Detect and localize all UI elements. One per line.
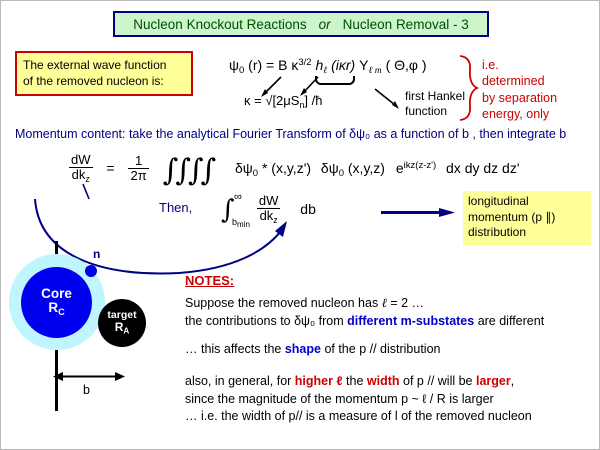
target-circle: target RA [98,299,146,347]
note-3a-comma: , [511,374,514,388]
longmom-line-1: longitudinal [468,194,586,210]
core-radius-text: R [48,300,58,315]
spherical-harmonic-argument: ( Θ,φ ) [382,57,427,73]
core-circle: Core RC [21,267,92,338]
integrand-second: δψ0 (x,y,z) [321,160,385,176]
title-right: Nucleon Removal - 3 [343,17,469,32]
title-or: or [319,17,331,32]
ie-line-4: energy, only [482,106,557,122]
note-3a-bold2: width [367,374,400,388]
integrand-a-arg: * (x,y,z') [258,160,311,176]
notes-heading: NOTES: [185,273,234,288]
title-left: Nucleon Knockout Reactions [133,17,306,32]
neutron-label: n [93,247,100,261]
callout-line-2: of the removed nucleon is: [23,73,185,89]
neutron-dot [85,265,97,277]
note-1a: Suppose the removed nucleon has ℓ = 2 … [185,295,544,313]
dW-numerator: dW [69,153,93,168]
note-3c: … i.e. the width of p// is a measure of … [185,408,532,426]
integrand-a-symbol: δψ [235,160,253,176]
core-radius-label: RC [48,301,64,318]
hankel-argument: (iκr) [327,57,355,73]
equals-sign: = [106,160,114,176]
note-3a: also, in general, for higher ℓ the width… [185,373,532,391]
callout-line-1: The external wave function [23,57,185,73]
longitudinal-momentum-box: longitudinal momentum (p ∥) distribution [463,191,591,245]
quadruple-integral-symbol: ∫∫∫∫ [163,153,214,188]
separation-energy-note: i.e. determined by separation energy, on… [482,57,557,122]
note-1b-tail: are different [474,314,544,328]
slide-canvas: Nucleon Knockout Reactions or Nucleon Re… [0,0,600,450]
core-radius-subscript: C [58,307,65,317]
note-2-head: … this affects the [185,342,285,356]
kappa-definition-equation: κ = √[2μSn] /ħ [244,93,322,110]
psi-symbol: ψ [229,57,239,73]
note-3a-bold1: higher ℓ [295,374,343,388]
spherical-harmonic-subscript: ℓ m [368,66,381,76]
note-1b-bold: different m-substates [347,314,474,328]
core-label: Core [41,287,72,301]
target-radius-label: RA [115,321,130,336]
fraction-numerator: 1 [128,154,148,169]
kappa-def-head: κ = √[2μS [244,93,299,108]
kappa-exponent: 3/2 [298,57,311,68]
hankel-term: hℓ (iκr) [315,57,355,76]
note-1a-tail: = 2 … [387,296,424,310]
slide-title: Nucleon Knockout Reactions or Nucleon Re… [113,11,489,37]
integrand-first: δψ0 * (x,y,z') [235,160,311,176]
target-radius-subscript: A [123,327,129,336]
ie-line-2: determined [482,73,557,89]
impact-parameter-label: b [83,383,90,397]
note-1b: the contributions to δψ₀ from different … [185,313,544,331]
db-measure: db [300,201,316,217]
exponential-factor: eikz(z-z') [396,160,436,176]
note-2-bold: shape [285,342,321,356]
hankel-pointer-arrow [373,87,403,111]
kappa-def-tail: ] /ħ [304,93,322,108]
result-arrow-icon [381,208,455,217]
note-3b: since the magnitude of the momentum p ~ … [185,391,532,409]
note-2-tail: of the p // distribution [321,342,441,356]
main-integral-equation: dW dkz = 1 2π ∫∫∫∫ δψ0 * (x,y,z') δψ0 (x… [69,153,520,188]
integration-measures: dx dy dz dz' [446,160,520,176]
note-1a-text: Suppose the removed nucleon has [185,296,382,310]
note-3a-head: also, in general, for [185,374,295,388]
momentum-content-line: Momentum content: take the analytical Fo… [15,127,566,141]
exponential-exponent: ikz(z-z') [404,160,436,171]
longmom-line-2: momentum (p ∥) [468,210,586,226]
note-3a-mid2: of p // will be [400,374,476,388]
psi-argument: (r) = B κ [244,57,298,73]
integrand-b-arg: (x,y,z) [344,160,385,176]
wavefunction-equation: ψ0 (r) = B κ3/2 hℓ (iκr) Yℓ m ( Θ,φ ) [229,57,427,76]
note-line-3: also, in general, for higher ℓ the width… [185,373,532,426]
dkz-text: dk [72,167,86,182]
integrand-b-symbol: δψ [321,160,339,176]
one-over-twopi-fraction: 1 2π [128,154,148,183]
note-3a-mid: the [343,374,367,388]
ie-line-3: by separation [482,90,557,106]
ie-line-1: i.e. [482,57,557,73]
impact-parameter-arrow-icon [53,371,125,382]
exponential-base: e [396,160,404,176]
note-3a-bold3: larger [476,374,511,388]
longmom-line-3: distribution [468,225,586,241]
fraction-denominator: 2π [128,169,148,183]
note-1b-head: the contributions to δψ₀ from [185,314,347,328]
curly-brace-icon [456,53,480,123]
external-wavefunction-callout: The external wave function of the remove… [15,51,193,96]
note-line-1: Suppose the removed nucleon has ℓ = 2 … … [185,295,544,330]
dW-dkz-fraction: dW dkz [69,153,93,184]
note-line-2: … this affects the shape of the p // dis… [185,341,440,359]
